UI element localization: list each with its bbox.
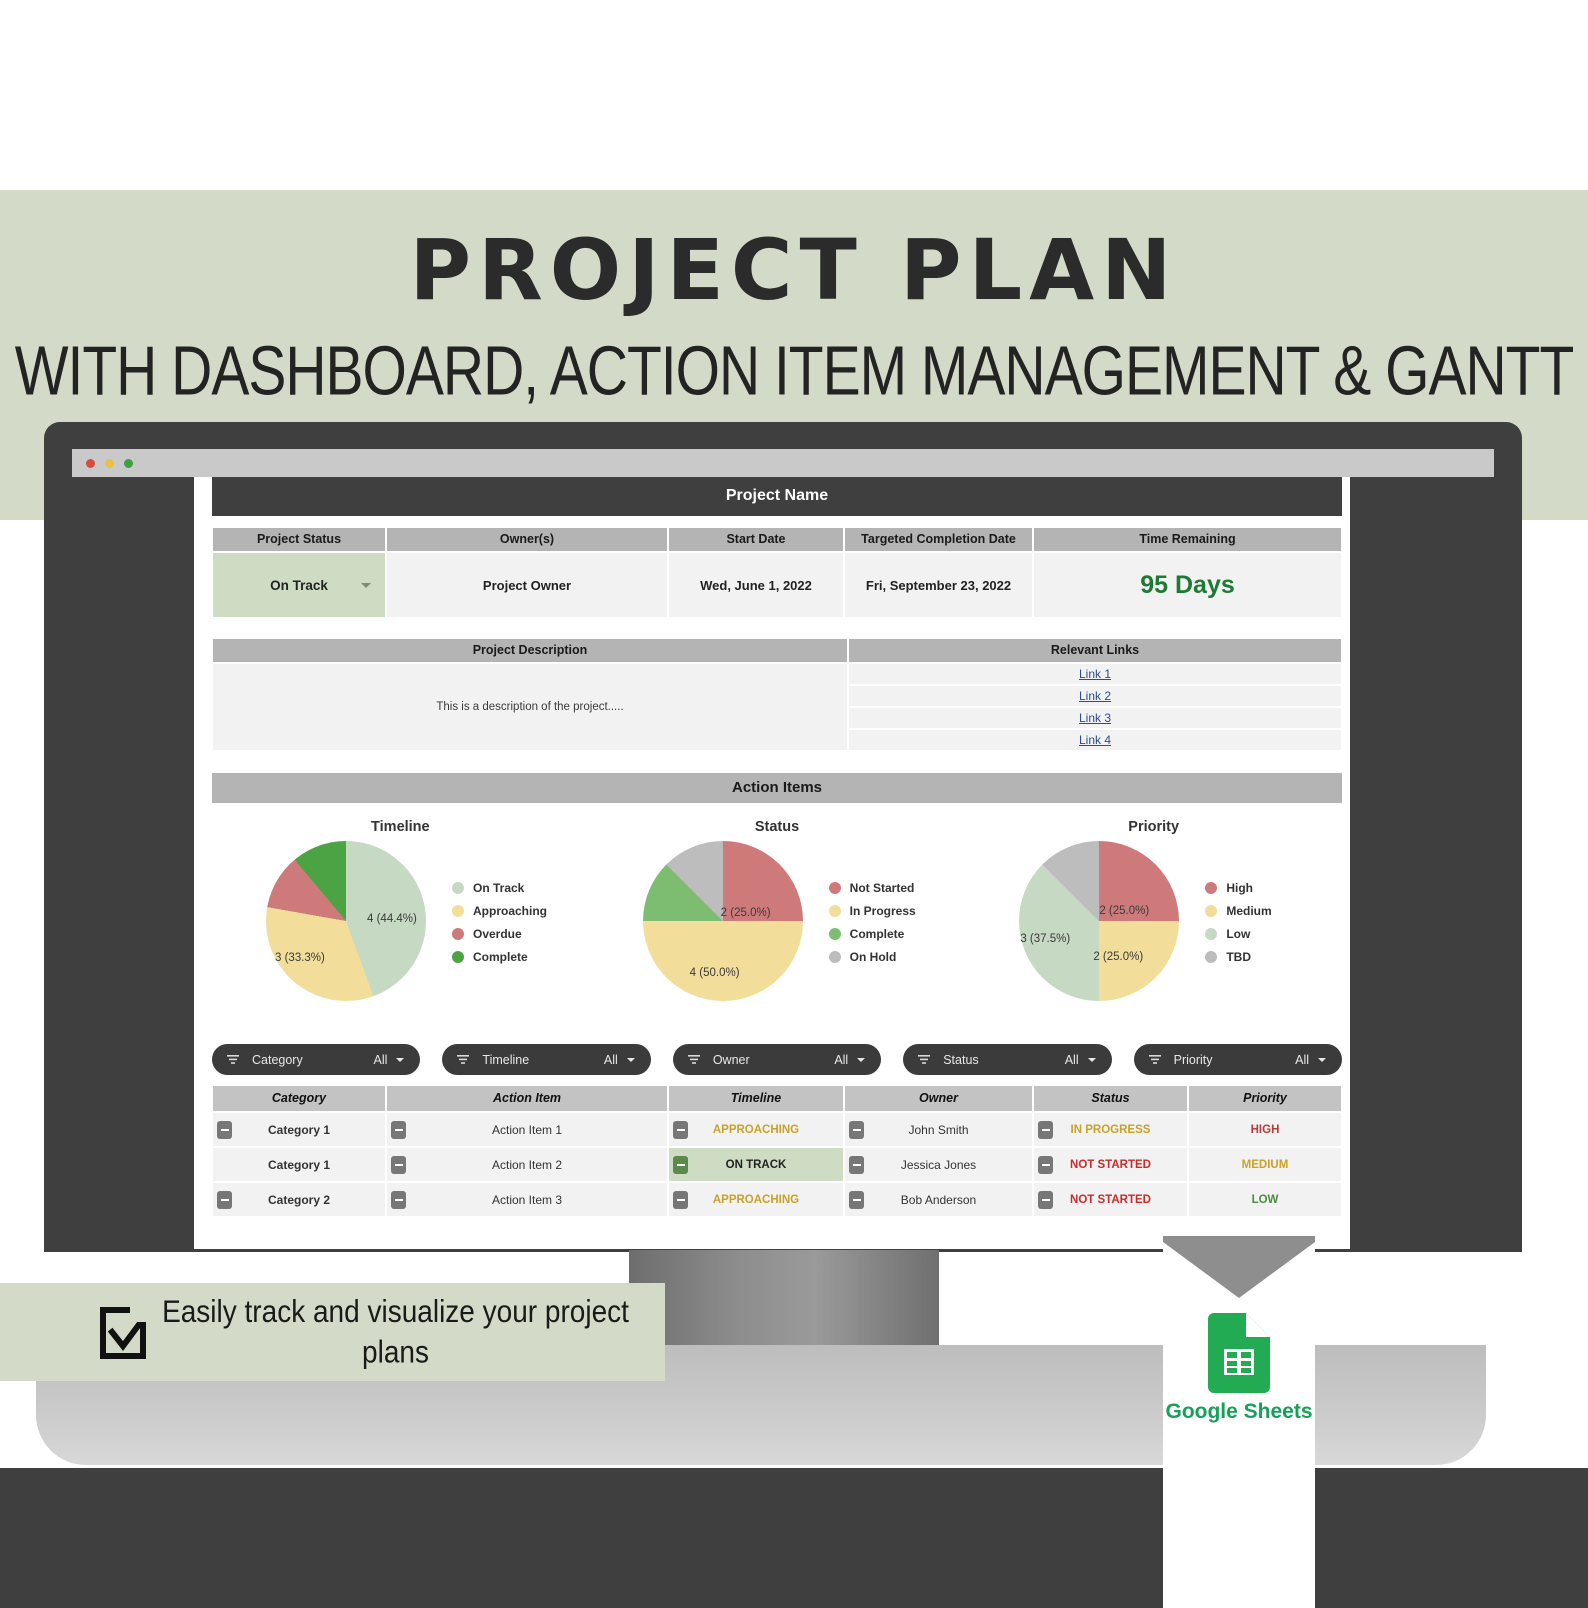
chart-title-timeline: Timeline [212,819,589,835]
column-header-owner[interactable]: Owner [844,1085,1033,1112]
relevant-link-4[interactable]: Link 4 [1079,733,1111,747]
cell-text: NOT STARTED [1034,1159,1187,1171]
legend-item[interactable]: On Track [452,881,547,895]
cell-text: HIGH [1189,1124,1341,1136]
filter-timeline[interactable]: Timeline All [442,1044,650,1075]
cell-text: Action Item 2 [387,1158,667,1172]
collapse-group-icon[interactable] [1038,1156,1053,1174]
cell-text: Action Item 3 [387,1193,667,1207]
maximize-window-dot[interactable] [124,459,133,468]
cell-text: APPROACHING [669,1124,843,1136]
cell-owner[interactable]: Jessica Jones [844,1147,1033,1182]
legend-swatch-overdue [452,928,464,940]
cell-action-item[interactable]: Action Item 2 [386,1147,668,1182]
slice-label-approaching: 3 (33.3%) [275,952,325,964]
cell-text: APPROACHING [669,1194,843,1206]
project-status-dropdown[interactable]: On Track [212,552,386,618]
collapse-group-icon[interactable] [849,1121,864,1139]
floor-band [0,1468,1588,1608]
description-links-row: Project Description This is a descriptio… [212,638,1342,751]
legend-label-high: High [1226,881,1253,895]
legend-item[interactable]: Complete [452,950,547,964]
cell-text: Category 1 [213,1158,385,1172]
page-subtitle: WITH DASHBOARD, ACTION ITEM MANAGEMENT &… [0,336,1588,409]
cell-text: John Smith [845,1123,1032,1137]
relevant-link-3[interactable]: Link 3 [1079,711,1111,725]
legend-label-on-hold: On Hold [850,950,897,964]
cell-timeline[interactable]: ON TRACK [668,1147,844,1182]
legend-item[interactable]: Medium [1205,904,1271,918]
collapse-group-icon[interactable] [391,1156,406,1174]
cell-status[interactable]: IN PROGRESS [1033,1112,1188,1147]
feature-callout: Easily track and visualize your project … [0,1283,665,1381]
summary-header-project-status: Project Status [212,527,386,552]
legend-item[interactable]: Low [1205,927,1271,941]
slice-label-high: 2 (25.0%) [1099,905,1149,917]
legend-status: Not Started In Progress Complete On Hold [829,881,916,973]
legend-swatch-in-progress [829,905,841,917]
collapse-group-icon[interactable] [1038,1191,1053,1209]
slice-label-medium: 2 (25.0%) [1093,951,1143,963]
legend-label-overdue: Overdue [473,927,522,941]
project-status-value: On Track [270,578,328,593]
legend-swatch-approaching [452,905,464,917]
target-date-cell[interactable]: Fri, September 23, 2022 [844,552,1033,618]
links-header: Relevant Links [848,638,1342,663]
cell-text: LOW [1189,1194,1341,1206]
list-item[interactable]: Link 2 [848,685,1342,707]
table-row: Category 1 Action Item 2 ON TRACK Jessic… [212,1147,1342,1182]
cell-text: MEDIUM [1189,1159,1341,1171]
chart-priority: Priority 2 (25.0%) 2 (25.0%) 3 (37.5%) H… [965,815,1342,1040]
cell-action-item[interactable]: Action Item 3 [386,1182,668,1217]
chevron-down-icon[interactable] [361,583,371,588]
legend-label-tbd: TBD [1226,950,1251,964]
cell-status[interactable]: NOT STARTED [1033,1182,1188,1217]
legend-item[interactable]: Not Started [829,881,916,895]
cell-timeline[interactable]: APPROACHING [668,1112,844,1147]
legend-swatch-medium [1205,905,1217,917]
table-row: Category 1 Action Item 1 APPROACHING Joh… [212,1112,1342,1147]
summary-header-row: Project Status Owner(s) Start Date Targe… [212,527,1342,552]
collapse-group-icon[interactable] [849,1191,864,1209]
filter-icon [1149,1054,1161,1066]
slice-label-low: 3 (37.5%) [1020,933,1070,945]
filter-category[interactable]: Category All [212,1044,420,1075]
collapse-group-icon[interactable] [391,1191,406,1209]
legend-label-complete: Complete [473,950,528,964]
cell-text: NOT STARTED [1034,1194,1187,1206]
collapse-group-icon[interactable] [849,1156,864,1174]
column-header-category[interactable]: Category [212,1085,386,1112]
monitor-bezel: Project Name Project Status Owner(s) Sta… [44,422,1522,1252]
slice-label-not-started: 2 (25.0%) [721,907,771,919]
legend-label-not-started: Not Started [850,881,915,895]
cell-category[interactable]: Category 2 [212,1182,386,1217]
column-header-timeline[interactable]: Timeline [668,1085,844,1112]
chart-status: Status 2 (25.0%) 4 (50.0%) Not Started I… [589,815,966,1040]
cell-text: Bob Anderson [845,1193,1032,1207]
cell-text: Category 1 [213,1123,385,1137]
slice-label-on-track: 4 (44.4%) [367,913,417,925]
cell-action-item[interactable]: Action Item 1 [386,1112,668,1147]
chevron-down-icon[interactable] [627,1058,635,1062]
page-title: PROJECT PLAN [0,228,1588,312]
filter-label-priority: Priority [1174,1053,1213,1067]
legend-swatch-not-started [829,882,841,894]
close-window-dot[interactable] [86,459,95,468]
legend-label-medium: Medium [1226,904,1271,918]
cell-text: Category 2 [213,1193,385,1207]
table-row: Category 2 Action Item 3 APPROACHING Bob… [212,1182,1342,1217]
cell-priority[interactable]: HIGH [1188,1112,1342,1147]
filter-icon [227,1054,239,1066]
filter-priority[interactable]: Priority All [1134,1044,1342,1075]
legend-item[interactable]: On Hold [829,950,916,964]
action-items-banner: Action Items [212,773,1342,803]
relevant-link-2[interactable]: Link 2 [1079,689,1111,703]
pie-timeline: 4 (44.4%) 3 (33.3%) [266,841,438,1013]
cell-text: ON TRACK [669,1159,843,1171]
legend-label-on-track: On Track [473,881,524,895]
chevron-down-icon[interactable] [857,1058,865,1062]
description-body[interactable]: This is a description of the project....… [212,663,848,751]
legend-swatch-on-track [452,882,464,894]
links-column: Relevant Links Link 1 Link 2 Link 3 Link… [848,638,1342,751]
filter-value-status: All [1065,1053,1079,1067]
filter-chip-row: Category All Timeline All Owner All [212,1044,1342,1075]
filter-icon [457,1054,469,1066]
pie-status: 2 (25.0%) 4 (50.0%) [643,841,815,1013]
collapse-group-icon[interactable] [217,1191,232,1209]
legend-timeline: On Track Approaching Overdue Complete [452,881,547,973]
filter-status[interactable]: Status All [903,1044,1111,1075]
filter-icon [688,1054,700,1066]
cell-priority[interactable]: LOW [1188,1182,1342,1217]
ribbon-notch [1163,1236,1315,1298]
callout-text: Easily track and visualize your project … [156,1292,665,1372]
collapse-group-icon[interactable] [391,1121,406,1139]
legend-swatch-on-hold [829,951,841,963]
collapse-group-icon[interactable] [1038,1121,1053,1139]
cell-text: Jessica Jones [845,1158,1032,1172]
chevron-down-icon[interactable] [1088,1058,1096,1062]
action-items-table: Category Action Item Timeline Owner Stat… [212,1085,1342,1217]
legend-label-low: Low [1226,927,1250,941]
project-name-banner: Project Name [212,477,1342,516]
chart-title-priority: Priority [965,819,1342,835]
legend-item[interactable]: Overdue [452,927,547,941]
legend-item[interactable]: In Progress [829,904,916,918]
relevant-link-1[interactable]: Link 1 [1079,667,1111,681]
project-owner-cell[interactable]: Project Owner [386,552,668,618]
minimize-window-dot[interactable] [105,459,114,468]
legend-swatch-high [1205,882,1217,894]
cell-owner[interactable]: Bob Anderson [844,1182,1033,1217]
cell-priority[interactable]: MEDIUM [1188,1147,1342,1182]
google-sheets-label: Google Sheets [1163,1400,1315,1424]
filter-value-category: All [374,1053,388,1067]
cell-category[interactable]: Category 1 [212,1147,386,1182]
summary-header-owners: Owner(s) [386,527,668,552]
summary-header-target-date: Targeted Completion Date [844,527,1033,552]
browser-titlebar [72,449,1494,477]
filter-label-owner: Owner [713,1053,750,1067]
start-date-cell[interactable]: Wed, June 1, 2022 [668,552,844,618]
filter-icon [918,1054,930,1066]
legend-item[interactable]: TBD [1205,950,1271,964]
collapse-group-icon[interactable] [673,1121,688,1139]
cell-category[interactable]: Category 1 [212,1112,386,1147]
chevron-down-icon[interactable] [396,1058,404,1062]
chart-timeline: Timeline 4 (44.4%) 3 (33.3%) On Track Ap… [212,815,589,1040]
legend-label-approaching: Approaching [473,904,547,918]
legend-label-complete: Complete [850,927,905,941]
collapse-group-icon[interactable] [673,1156,688,1174]
cell-timeline[interactable]: APPROACHING [668,1182,844,1217]
column-header-priority[interactable]: Priority [1188,1085,1342,1112]
monitor-mockup: Project Name Project Status Owner(s) Sta… [44,422,1522,1352]
pie-priority: 2 (25.0%) 2 (25.0%) 3 (37.5%) [1019,841,1191,1013]
pie-slices-priority [1019,841,1179,1001]
legend-swatch-tbd [1205,951,1217,963]
legend-item[interactable]: High [1205,881,1271,895]
table-header-row: Category Action Item Timeline Owner Stat… [212,1085,1342,1112]
cell-owner[interactable]: John Smith [844,1112,1033,1147]
spreadsheet-page: Project Name Project Status Owner(s) Sta… [194,477,1350,1249]
legend-item[interactable]: Approaching [452,904,547,918]
checkbox-checked-icon [100,1304,156,1360]
description-header: Project Description [212,638,848,663]
slice-label-in-progress: 4 (50.0%) [690,967,740,979]
legend-label-in-progress: In Progress [850,904,916,918]
legend-item[interactable]: Complete [829,927,916,941]
collapse-group-icon[interactable] [673,1191,688,1209]
description-column: Project Description This is a descriptio… [212,638,848,751]
legend-swatch-complete [452,951,464,963]
sheet-content: Project Name Project Status Owner(s) Sta… [212,477,1342,1217]
summary-header-time-remaining: Time Remaining [1033,527,1342,552]
list-item[interactable]: Link 1 [848,663,1342,685]
filter-value-owner: All [834,1053,848,1067]
charts-row: Timeline 4 (44.4%) 3 (33.3%) On Track Ap… [212,815,1342,1040]
column-header-action-item[interactable]: Action Item [386,1085,668,1112]
chart-title-status: Status [589,819,966,835]
filter-label-timeline: Timeline [482,1053,529,1067]
list-item[interactable]: Link 4 [848,729,1342,751]
summary-header-start-date: Start Date [668,527,844,552]
filter-value-timeline: All [604,1053,618,1067]
summary-value-row: On Track Project Owner Wed, June 1, 2022… [212,552,1342,618]
collapse-group-icon[interactable] [217,1121,232,1139]
cell-status[interactable]: NOT STARTED [1033,1147,1188,1182]
legend-swatch-complete [829,928,841,940]
chevron-down-icon[interactable] [1318,1058,1326,1062]
filter-label-category: Category [252,1053,303,1067]
column-header-status[interactable]: Status [1033,1085,1188,1112]
filter-owner[interactable]: Owner All [673,1044,881,1075]
filter-label-status: Status [943,1053,978,1067]
time-remaining-cell: 95 Days [1033,552,1342,618]
list-item[interactable]: Link 3 [848,707,1342,729]
legend-priority: High Medium Low TBD [1205,881,1271,973]
google-sheets-icon [1208,1313,1270,1393]
cell-text: IN PROGRESS [1034,1124,1187,1136]
cell-text: Action Item 1 [387,1123,667,1137]
filter-value-priority: All [1295,1053,1309,1067]
legend-swatch-low [1205,928,1217,940]
